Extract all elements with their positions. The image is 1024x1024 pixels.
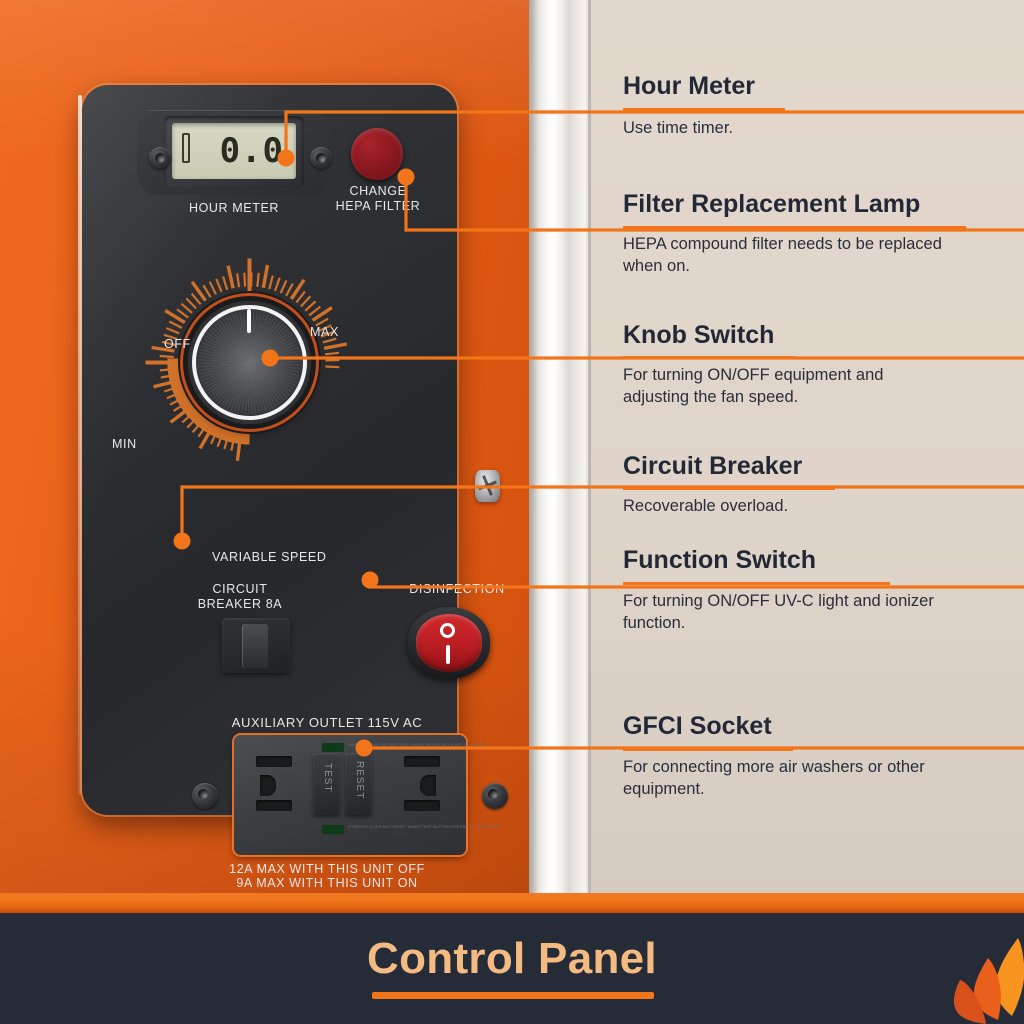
- callout-rule-function-switch: [623, 582, 890, 585]
- knob-label-variable-speed: VARIABLE SPEED: [212, 550, 412, 564]
- callout-title-function-switch: Function Switch: [623, 546, 816, 575]
- outlet-ground-slot: [260, 775, 276, 796]
- knob-pointer: [247, 309, 251, 333]
- outlet-slot: [404, 756, 440, 767]
- screw-icon: [149, 147, 171, 169]
- banner-title: Control Panel: [0, 934, 1024, 984]
- disinfection-label: DISINFECTION: [377, 582, 537, 596]
- infographic-stage: 0.0 HOUR METER CHANGE HEPA FILTER OFF MA…: [0, 0, 1024, 1024]
- hour-meter-digit-frame: [182, 133, 190, 163]
- screw-icon: [482, 783, 508, 809]
- callout-rule-knob-switch: [623, 356, 795, 359]
- hour-meter-value: 0.0: [220, 131, 284, 171]
- callout-title-circuit-breaker: Circuit Breaker: [623, 452, 802, 481]
- circuit-breaker-label: CIRCUIT BREAKER 8A: [180, 582, 300, 612]
- banner-underline: [372, 992, 654, 999]
- callout-title-gfci-socket: GFCI Socket: [623, 712, 772, 741]
- power-on-symbol-icon: [446, 645, 450, 664]
- filter-lamp-label-line1: CHANGE: [318, 184, 438, 199]
- filter-lamp-label-line2: HEPA FILTER: [318, 199, 438, 214]
- callout-desc-gfci-socket: For connecting more air washers or other…: [623, 756, 953, 800]
- orange-divider-band: [0, 893, 1024, 913]
- hour-meter-display: 0.0: [172, 123, 296, 179]
- hour-meter-label: HOUR METER: [154, 201, 314, 215]
- callout-title-knob-switch: Knob Switch: [623, 321, 774, 350]
- phillips-screw-icon: [475, 470, 500, 502]
- callout-rule-hour-meter: [623, 108, 785, 111]
- callout-desc-circuit-breaker: Recoverable overload.: [623, 495, 953, 517]
- callout-desc-hour-meter: Use time timer.: [623, 117, 953, 139]
- power-off-symbol-icon: [440, 623, 455, 638]
- gfci-microtext-bottom: IF DEVICE DOES NOT RESET WHEN TEST BUTTO…: [348, 824, 501, 829]
- knob-label-min: MIN: [112, 437, 172, 451]
- callout-rule-gfci-socket: [623, 748, 793, 751]
- panel-edge-highlight: [78, 95, 82, 795]
- knob-label-off: OFF: [164, 337, 224, 351]
- gfci-note-line1: 12A MAX WITH THIS UNIT OFF: [162, 862, 492, 876]
- screw-icon: [310, 147, 332, 169]
- gfci-note-line2: 9A MAX WITH THIS UNIT ON: [162, 876, 492, 890]
- gfci-led-indicator: [322, 825, 344, 834]
- callout-rule-circuit-breaker: [623, 487, 835, 490]
- gfci-test-label: TEST: [322, 763, 333, 793]
- auxiliary-outlet-title: AUXILIARY OUTLET 115V AC: [162, 715, 492, 730]
- gfci-microtext-top: WARNING: RISK OF ELECTRIC SHOCK RECEPTAC…: [348, 742, 490, 747]
- control-panel: 0.0 HOUR METER CHANGE HEPA FILTER OFF MA…: [82, 85, 457, 815]
- breaker-lever-icon[interactable]: [242, 624, 268, 668]
- outlet-ground-slot: [420, 775, 436, 796]
- callout-rule-filter-lamp: [623, 226, 966, 229]
- callout-desc-knob-switch: For turning ON/OFF equipment and adjusti…: [623, 364, 953, 408]
- callout-desc-function-switch: For turning ON/OFF UV-C light and ionize…: [623, 590, 953, 634]
- gfci-reset-label: RESET: [354, 761, 365, 799]
- knob-label-max: MAX: [310, 325, 370, 339]
- indicator-lamp-icon: [351, 128, 403, 180]
- flame-logo-icon: [940, 920, 1024, 1024]
- knob-assembly[interactable]: [142, 255, 357, 470]
- product-silver-strip: [529, 0, 591, 893]
- filter-lamp-label: CHANGE HEPA FILTER: [318, 184, 438, 214]
- circuit-breaker-label-line2: BREAKER 8A: [180, 597, 300, 612]
- outlet-slot: [404, 800, 440, 811]
- callout-title-hour-meter: Hour Meter: [623, 72, 755, 101]
- circuit-breaker-label-line1: CIRCUIT: [180, 582, 300, 597]
- screw-icon: [192, 783, 218, 809]
- callout-title-filter-lamp: Filter Replacement Lamp: [623, 190, 920, 219]
- strip-edge-right: [588, 0, 591, 893]
- outlet-slot: [256, 800, 292, 811]
- callout-desc-filter-lamp: HEPA compound filter needs to be replace…: [623, 233, 953, 277]
- gfci-led-indicator: [322, 743, 344, 752]
- outlet-slot: [256, 756, 292, 767]
